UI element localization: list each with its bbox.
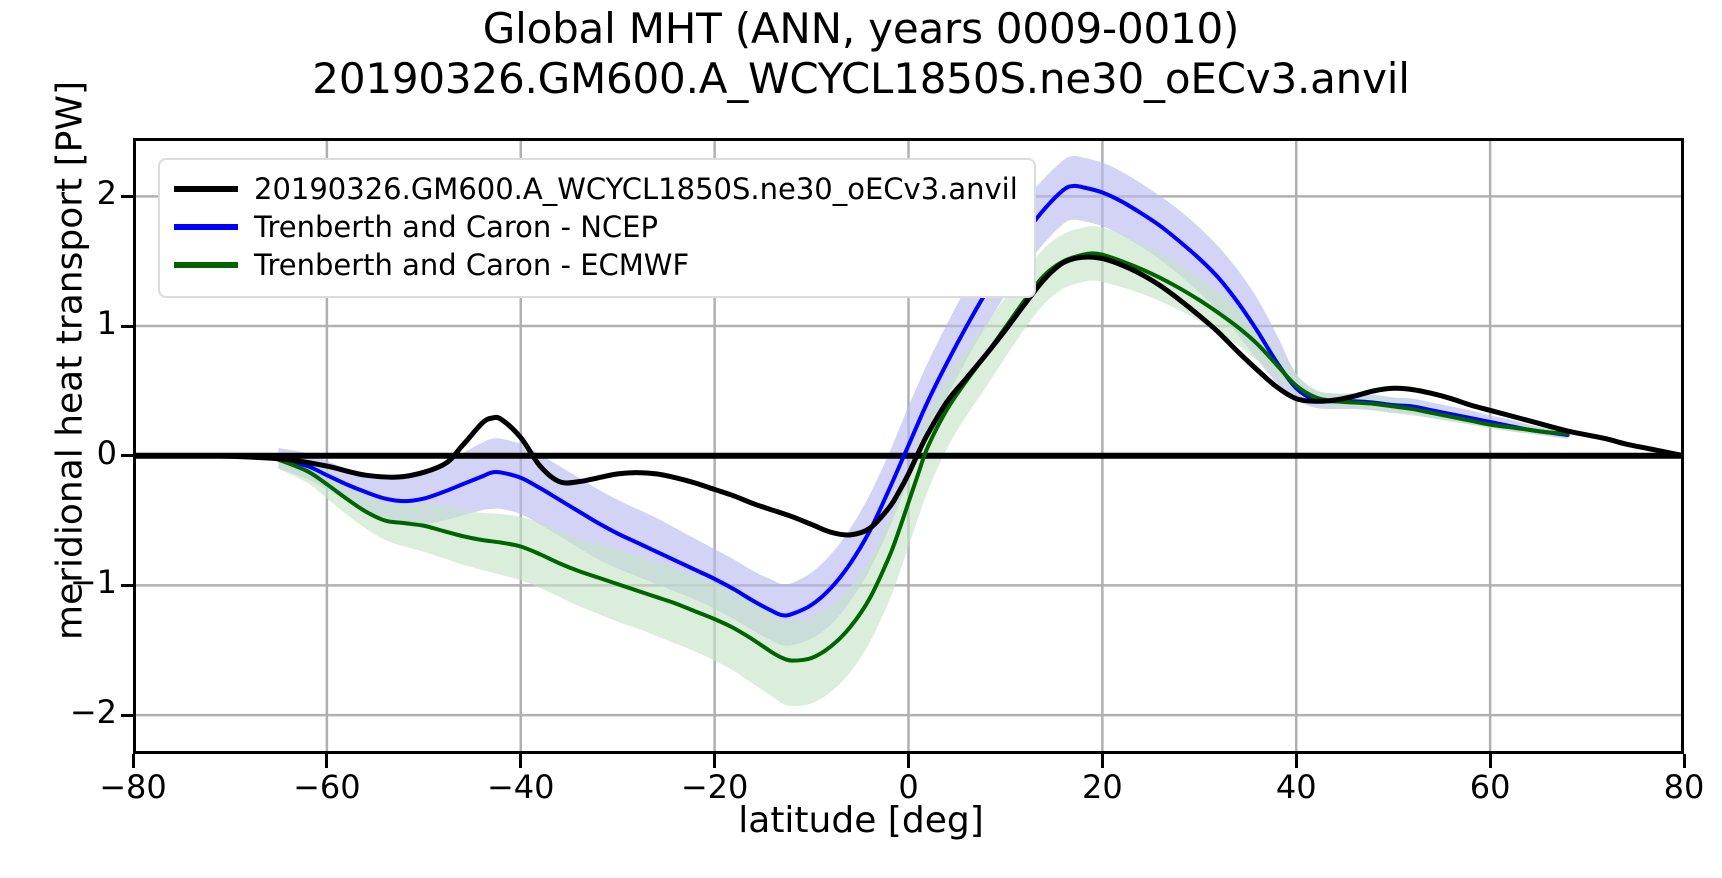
x-tick-mark	[519, 754, 522, 768]
legend-entry-label: Trenberth and Caron - NCEP	[254, 210, 658, 244]
x-tick-label: −40	[461, 768, 581, 806]
y-tick-label: −1	[27, 563, 117, 601]
legend-box: 20190326.GM600.A_WCYCL1850S.ne30_oECv3.a…	[158, 158, 1036, 298]
figure-title: Global MHT (ANN, years 0009-0010) 201903…	[0, 4, 1722, 103]
x-tick-label: 80	[1624, 768, 1722, 806]
legend-entry[interactable]: 20190326.GM600.A_WCYCL1850S.ne30_oECv3.a…	[174, 170, 1018, 208]
y-tick-label: 1	[27, 304, 117, 342]
y-tick-label: −2	[27, 693, 117, 731]
x-tick-mark	[325, 754, 328, 768]
legend-entry[interactable]: Trenberth and Caron - ECMWF	[174, 246, 1018, 284]
x-tick-mark	[1295, 754, 1298, 768]
figure-title-line-2: 20190326.GM600.A_WCYCL1850S.ne30_oECv3.a…	[0, 54, 1722, 104]
x-tick-mark	[1683, 754, 1686, 768]
legend-color-swatch	[174, 224, 238, 230]
x-tick-label: −80	[73, 768, 193, 806]
x-tick-label: −60	[267, 768, 387, 806]
legend-color-swatch	[174, 186, 238, 192]
x-tick-mark	[713, 754, 716, 768]
figure-title-line-1: Global MHT (ANN, years 0009-0010)	[0, 4, 1722, 54]
x-tick-label: 0	[849, 768, 969, 806]
x-tick-label: 20	[1042, 768, 1162, 806]
legend-entry[interactable]: Trenberth and Caron - NCEP	[174, 208, 1018, 246]
legend-entry-label: 20190326.GM600.A_WCYCL1850S.ne30_oECv3.a…	[254, 172, 1018, 206]
x-tick-mark	[132, 754, 135, 768]
x-tick-label: 40	[1236, 768, 1356, 806]
x-tick-mark	[1101, 754, 1104, 768]
x-axis-label: latitude [deg]	[0, 800, 1722, 841]
x-tick-mark	[907, 754, 910, 768]
y-tick-label: 0	[27, 434, 117, 472]
x-tick-label: 60	[1430, 768, 1550, 806]
x-tick-label: −20	[655, 768, 775, 806]
legend-entry-label: Trenberth and Caron - ECMWF	[254, 248, 689, 282]
legend-color-swatch	[174, 262, 238, 268]
x-tick-mark	[1489, 754, 1492, 768]
figure-canvas: Global MHT (ANN, years 0009-0010) 201903…	[0, 0, 1722, 878]
y-tick-label: 2	[27, 174, 117, 212]
